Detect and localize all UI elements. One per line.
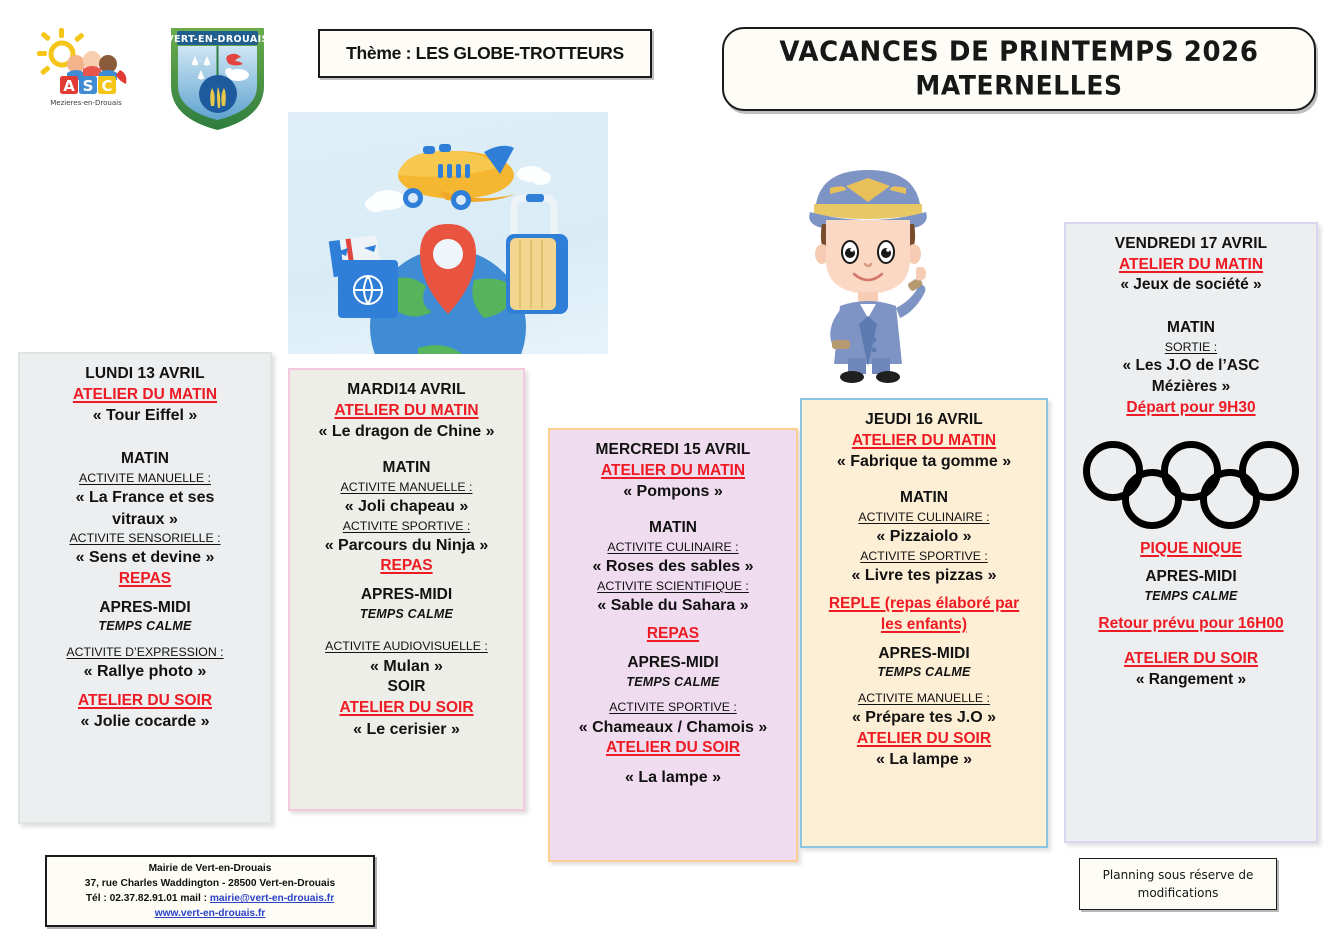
olympic-rings-icon (1083, 441, 1299, 517)
travel-illustration (288, 112, 608, 354)
atelier-soir-value: « La lampe » (559, 767, 787, 789)
activity-3-value: « Prépare tes J.O » (811, 707, 1037, 729)
repas-label: REPAS (559, 624, 787, 645)
day-title: JEUDI 16 AVRIL (811, 410, 1037, 431)
matin-label: MATIN (29, 449, 261, 470)
footer-line-4: www.vert-en-drouais.fr (47, 906, 373, 921)
atelier-matin-label: ATELIER DU MATIN (1075, 255, 1307, 276)
pique-nique-label: PIQUE NIQUE (1075, 539, 1307, 560)
apres-midi-label: APRES-MIDI (811, 644, 1037, 665)
soir-label: SOIR (299, 677, 514, 698)
day-title: MARDI14 AVRIL (299, 380, 514, 401)
activity-3-label: ACTIVITE D’EXPRESSION : (29, 644, 261, 661)
footer-website-link[interactable]: www.vert-en-drouais.fr (155, 908, 266, 919)
activity-1-value: « Roses des sables » (559, 556, 787, 578)
note-line-2: modifications (1138, 884, 1219, 902)
activity-2-value: « Livre tes pizzas » (811, 565, 1037, 587)
atelier-matin-value: « Tour Eiffel » (29, 405, 261, 427)
activity-1-value-line-2: vitraux » (29, 509, 261, 531)
apres-midi-label: APRES-MIDI (29, 598, 261, 619)
temps-calme: TEMPS CALME (29, 618, 261, 636)
atelier-matin-value: « Jeux de société » (1075, 275, 1307, 296)
atelier-matin-label: ATELIER DU MATIN (29, 385, 261, 406)
temps-calme: TEMPS CALME (1075, 588, 1307, 606)
sortie-label: SORTIE : (1075, 339, 1307, 356)
apres-midi-label: APRES-MIDI (1075, 567, 1307, 588)
svg-text:A: A (63, 77, 75, 95)
page-title: VACANCES DE PRINTEMPS 2026 MATERNELLES (722, 27, 1316, 111)
asc-logo-subtitle: Mezieres-en-Drouais (50, 99, 122, 107)
activity-1-value: « Joli chapeau » (299, 496, 514, 518)
apres-midi-label: APRES-MIDI (299, 585, 514, 606)
day-card-vendredi[interactable]: VENDREDI 17 AVRIL ATELIER DU MATIN « Jeu… (1064, 222, 1318, 843)
theme-banner: Thème : LES GLOBE-TROTTEURS (318, 29, 652, 78)
activity-3-value: « Chameaux / Chamois » (559, 717, 787, 739)
activity-3-value: « Rallye photo » (29, 661, 261, 683)
footer-address-box: Mairie de Vert-en-Drouais 37, rue Charle… (45, 855, 375, 927)
matin-label: MATIN (559, 518, 787, 539)
day-title: LUNDI 13 AVRIL (29, 364, 261, 385)
atelier-soir-label: ATELIER DU SOIR (559, 738, 787, 759)
note-line-1: Planning sous réserve de (1103, 866, 1254, 884)
disclaimer-note-box: Planning sous réserve de modifications (1079, 858, 1277, 910)
atelier-soir-label: ATELIER DU SOIR (811, 729, 1037, 750)
sortie-value-line-1: « Les J.O de l’ASC (1075, 356, 1307, 377)
activity-2-value: « Parcours du Ninja » (299, 535, 514, 557)
theme-label: Thème : LES GLOBE-TROTTEURS (346, 43, 624, 64)
svg-text:S: S (83, 77, 94, 95)
atelier-matin-label: ATELIER DU MATIN (299, 401, 514, 422)
day-title: VENDREDI 17 AVRIL (1075, 234, 1307, 255)
atelier-matin-value: « Pompons » (559, 481, 787, 503)
repas-label-line-1: REPLE (repas élaboré par (811, 594, 1037, 615)
atelier-matin-label: ATELIER DU MATIN (811, 431, 1037, 452)
footer-email-link[interactable]: mairie@vert-en-drouais.fr (210, 893, 334, 904)
temps-calme: TEMPS CALME (559, 674, 787, 692)
day-card-mercredi[interactable]: MERCREDI 15 AVRIL ATELIER DU MATIN « Pom… (548, 428, 798, 862)
activity-3-label: ACTIVITE MANUELLE : (811, 690, 1037, 707)
activity-1-label: ACTIVITE CULINAIRE : (559, 539, 787, 556)
atelier-soir-label: ATELIER DU SOIR (299, 698, 514, 719)
day-card-lundi[interactable]: LUNDI 13 AVRIL ATELIER DU MATIN « Tour E… (18, 352, 272, 824)
activity-2-label: ACTIVITE SPORTIVE : (299, 518, 514, 535)
svg-text:C: C (101, 77, 112, 95)
temps-calme: TEMPS CALME (811, 664, 1037, 682)
atelier-matin-label: ATELIER DU MATIN (559, 461, 787, 482)
activity-2-label: ACTIVITE SCIENTIFIQUE : (559, 578, 787, 595)
repas-label: REPAS (29, 569, 261, 590)
activity-2-label: ACTIVITE SPORTIVE : (811, 548, 1037, 565)
retour-time: Retour prévu pour 16H00 (1075, 614, 1307, 635)
activity-2-value: « Sens et devine » (29, 547, 261, 569)
sortie-value-line-2: Mézières » (1075, 377, 1307, 398)
matin-label: MATIN (811, 488, 1037, 509)
atelier-soir-label: ATELIER DU SOIR (29, 691, 261, 712)
atelier-soir-value: « La lampe » (811, 749, 1037, 771)
title-line-2: MATERNELLES (915, 69, 1122, 103)
atelier-matin-value: « Le dragon de Chine » (299, 421, 514, 443)
activity-3-label: ACTIVITE AUDIOVISUELLE : (299, 638, 514, 655)
activity-1-label: ACTIVITE MANUELLE : (29, 470, 261, 487)
atelier-soir-value: « Jolie cocarde » (29, 711, 261, 733)
repas-label: REPAS (299, 556, 514, 577)
matin-label: MATIN (1075, 318, 1307, 339)
activity-3-label: ACTIVITE SPORTIVE : (559, 699, 787, 716)
olympic-ring-yellow (1122, 469, 1182, 529)
crest-label: VERT-EN-DROUAIS (166, 34, 269, 45)
atelier-soir-label: ATELIER DU SOIR (1075, 649, 1307, 670)
footer-line-2: 37, rue Charles Waddington - 28500 Vert-… (47, 876, 373, 891)
apres-midi-label: APRES-MIDI (559, 653, 787, 674)
atelier-soir-value: « Rangement » (1075, 670, 1307, 691)
olympic-ring-green (1200, 469, 1260, 529)
day-card-mardi[interactable]: MARDI14 AVRIL ATELIER DU MATIN « Le drag… (288, 368, 525, 811)
footer-line-1: Mairie de Vert-en-Drouais (47, 861, 373, 876)
activity-3-value: « Mulan » (299, 656, 514, 678)
matin-label: MATIN (299, 458, 514, 479)
temps-calme: TEMPS CALME (299, 606, 514, 624)
activity-1-value: « Pizzaiolo » (811, 526, 1037, 548)
activity-2-label: ACTIVITE SENSORIELLE : (29, 530, 261, 547)
atelier-matin-value: « Fabrique ta gomme » (811, 451, 1037, 473)
footer-line-3: Tél : 02.37.82.91.01 mail : mairie@vert-… (47, 891, 373, 906)
activity-1-value-line-1: « La France et ses (29, 487, 261, 509)
activity-2-value: « Sable du Sahara » (559, 595, 787, 617)
atelier-soir-value: « Le cerisier » (299, 719, 514, 741)
vert-en-drouais-crest-icon: VERT-EN-DROUAIS (165, 22, 270, 134)
repas-label-line-2: les enfants) (811, 615, 1037, 636)
title-line-1: VACANCES DE PRINTEMPS 2026 (779, 35, 1258, 71)
activity-1-label: ACTIVITE CULINAIRE : (811, 509, 1037, 526)
pilot-illustration (788, 158, 948, 384)
asc-logo: A S C Mezieres-en-Drouais (28, 26, 140, 110)
depart-time: Départ pour 9H30 (1075, 398, 1307, 419)
footer-phone-label: Tél : 02.37.82.91.01 mail : (86, 893, 210, 904)
day-card-jeudi[interactable]: JEUDI 16 AVRIL ATELIER DU MATIN « Fabriq… (800, 398, 1048, 848)
day-title: MERCREDI 15 AVRIL (559, 440, 787, 461)
activity-1-label: ACTIVITE MANUELLE : (299, 479, 514, 496)
